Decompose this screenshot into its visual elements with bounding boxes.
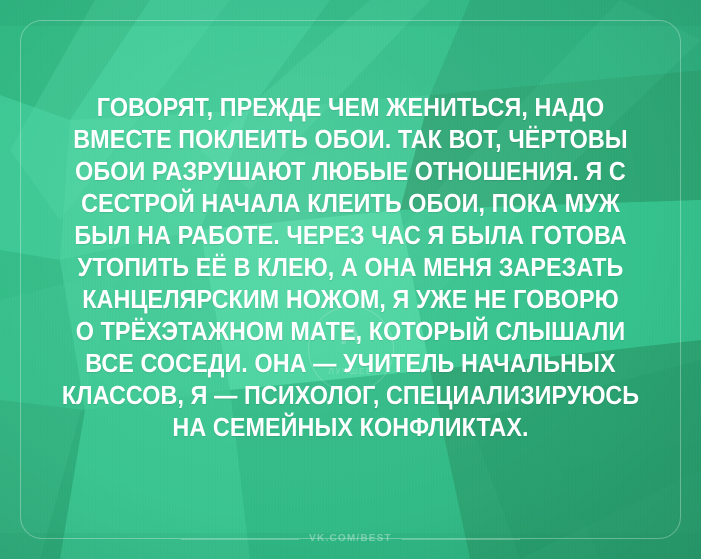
quote-text: Говорят, прежде чем жениться, надо вмест… [61,92,640,444]
quote-card: А ЛУЧШЕЕ Говорят, прежде чем жениться, н… [0,0,701,559]
